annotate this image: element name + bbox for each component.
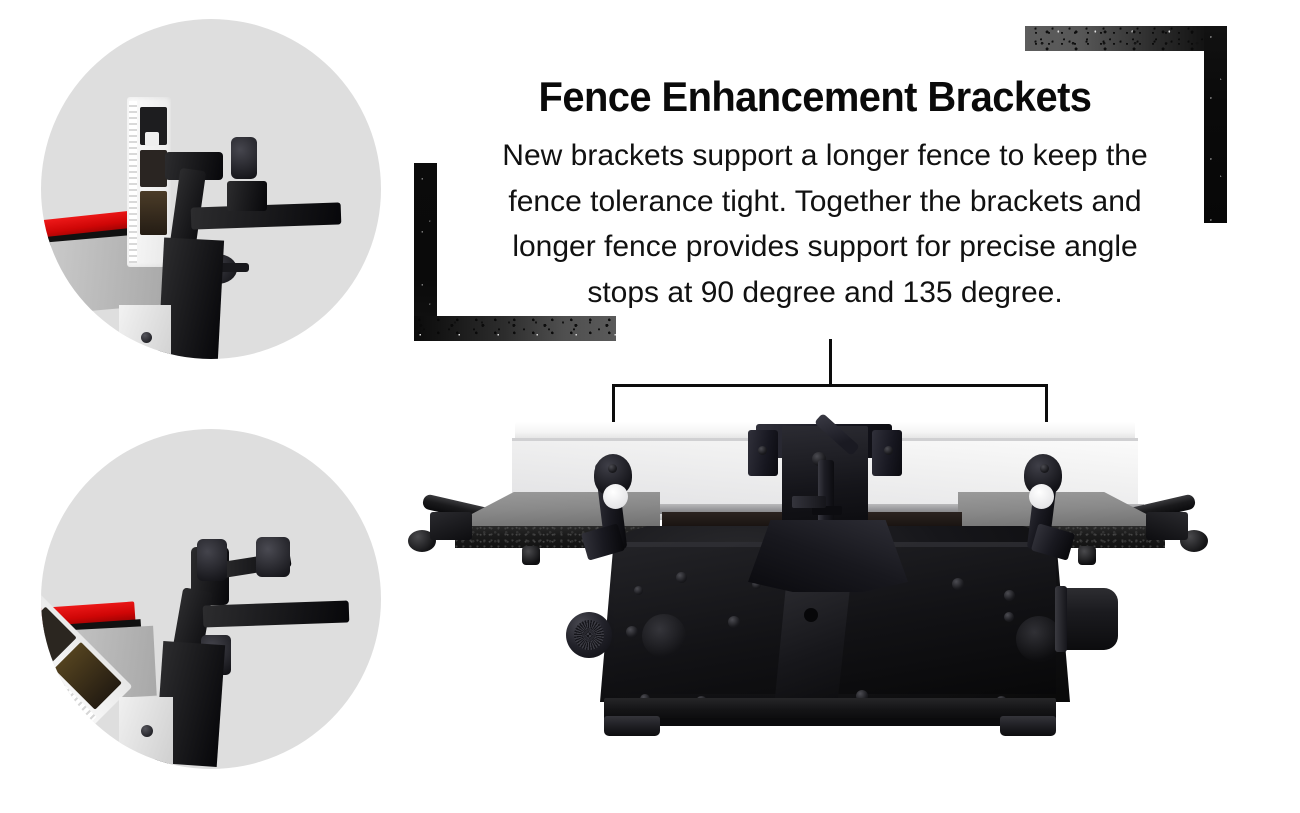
detail-photo-fence-90	[41, 19, 381, 359]
bracket-shelf-135	[203, 600, 350, 627]
handwheel-grip-ridges	[574, 620, 604, 650]
pivot-knob-135	[197, 539, 227, 581]
description-line-4: stops at 90 degree and 135 degree.	[430, 270, 1220, 316]
base-plate-underside	[660, 718, 1000, 726]
fence-stop-tab	[792, 496, 826, 508]
body-bolt-1	[676, 572, 687, 583]
body-wedge-hole	[804, 608, 818, 622]
left-table-bracket	[430, 512, 472, 540]
description-line-3: longer fence provides support for precis…	[430, 224, 1220, 270]
bracket-rib-90	[227, 181, 267, 211]
body-recess-left	[642, 614, 686, 658]
right-table-lock-knob	[1078, 546, 1096, 565]
left-table-lock-knob	[522, 546, 540, 565]
fence-enhancement-bracket-right-hole	[1029, 484, 1054, 509]
body-bolt-9	[1004, 590, 1015, 601]
fence-t-slot-90	[145, 132, 159, 146]
jointer-foot-left	[604, 716, 660, 736]
corner-bracket-top-right-horizontal	[1025, 26, 1227, 51]
carriage-right-bolt	[884, 446, 893, 455]
body-bolt-10	[1004, 612, 1014, 622]
locking-knob-upper-90	[231, 137, 257, 179]
carriage-left-bolt	[758, 446, 767, 455]
right-table-bracket	[1146, 512, 1188, 540]
page-title: Fence Enhancement Brackets	[435, 72, 1195, 122]
callout-leader-stem	[829, 339, 832, 387]
fence-enhancement-bracket-left-hole	[603, 484, 628, 509]
dust-collection-port	[1060, 588, 1118, 650]
main-photo-jointer	[400, 400, 1180, 745]
callout-leader-crossbar	[612, 384, 1048, 387]
body-bolt-3	[626, 626, 638, 638]
dust-port-flange	[1055, 586, 1067, 652]
fence-serrations-90	[129, 101, 137, 263]
cutterhead-guard-shroud	[748, 520, 908, 592]
body-bolt-2	[634, 586, 643, 595]
detail-photo-fence-135	[41, 429, 381, 769]
body-bolt-8	[952, 578, 964, 590]
bracket-left-pivot-bolt	[608, 464, 617, 473]
bracket-right-pivot-bolt	[1040, 464, 1049, 473]
corner-bracket-bottom-left-horizontal	[414, 316, 616, 341]
panel-bolt-135	[141, 725, 153, 737]
panel-bolt-90	[141, 332, 152, 343]
detail-photo-135-content	[41, 429, 381, 769]
infographic-canvas: Fence Enhancement Brackets New brackets …	[0, 0, 1300, 813]
description-line-2: fence tolerance tight. Together the brac…	[430, 179, 1220, 225]
detail-photo-90-content	[41, 19, 381, 359]
fence-cavity-mid-90	[140, 150, 167, 187]
jointer-foot-right	[1000, 716, 1056, 736]
page-description: New brackets support a longer fence to k…	[430, 133, 1220, 315]
body-bolt-4	[728, 616, 740, 628]
knob-stem-90	[219, 263, 249, 272]
locking-knob-upper-135	[256, 537, 290, 577]
description-line-1: New brackets support a longer fence to k…	[430, 133, 1220, 179]
fence-cavity-bottom-90	[140, 191, 167, 235]
